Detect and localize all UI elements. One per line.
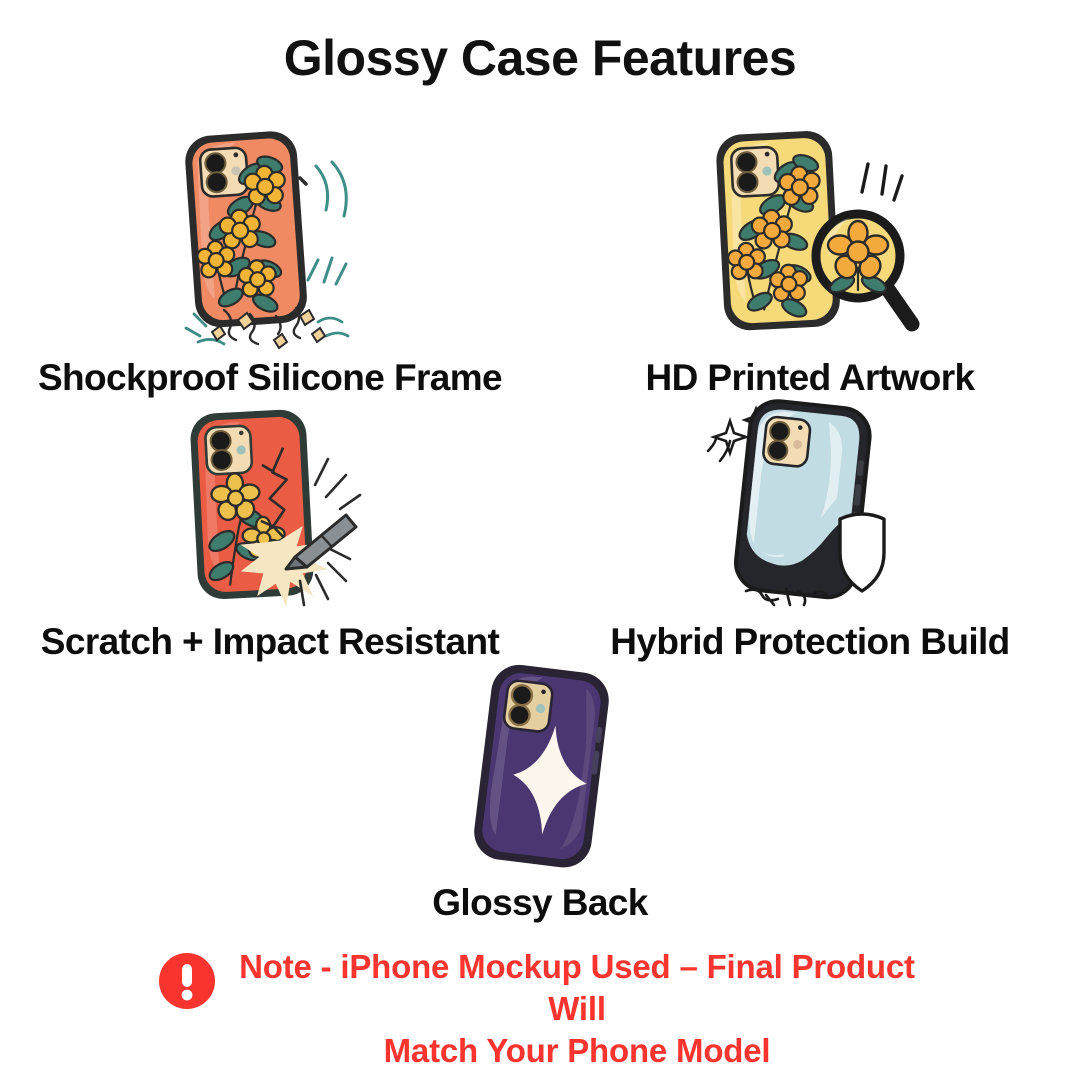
- note-text: Note - iPhone Mockup Used – Final Produc…: [232, 946, 922, 1073]
- feature-label: Glossy Back: [432, 883, 648, 924]
- feature-row: Glossy Back: [0, 662, 1080, 924]
- phone-case-shield-icon: [690, 399, 930, 614]
- feature-row: Scratch + Impact Resistant: [0, 399, 1080, 663]
- note-banner: Note - iPhone Mockup Used – Final Produc…: [0, 946, 1080, 1073]
- note-line-1: Note - iPhone Mockup Used – Final Produc…: [239, 948, 915, 1027]
- phone-case-gloss-icon: [420, 662, 660, 877]
- feature-label: Scratch + Impact Resistant: [41, 622, 499, 663]
- feature-label: Hybrid Protection Build: [610, 622, 1009, 663]
- note-line-2: Match Your Phone Model: [232, 1030, 922, 1072]
- feature-grid: Shockproof Silicone Frame: [0, 118, 1080, 924]
- feature-item-hybrid-protection-build: Hybrid Protection Build: [540, 399, 1080, 663]
- feature-item-scratch-impact-resistant: Scratch + Impact Resistant: [0, 399, 540, 663]
- page-title: Glossy Case Features: [0, 28, 1080, 88]
- feature-label: HD Printed Artwork: [645, 358, 974, 399]
- phone-case-magnifier-icon: [690, 118, 930, 350]
- feature-item-hd-printed-artwork: HD Printed Artwork: [540, 118, 1080, 399]
- glossy-case-features-infographic: Glossy Case Features: [0, 0, 1080, 1080]
- exclamation-circle-icon: [158, 952, 216, 1010]
- feature-label: Shockproof Silicone Frame: [38, 358, 502, 399]
- feature-item-glossy-back: Glossy Back: [0, 662, 1080, 924]
- feature-row: Shockproof Silicone Frame: [0, 118, 1080, 399]
- phone-case-impact-icon: [150, 118, 390, 350]
- phone-case-scratch-icon: [150, 399, 390, 614]
- feature-item-shockproof-silicone-frame: Shockproof Silicone Frame: [0, 118, 540, 399]
